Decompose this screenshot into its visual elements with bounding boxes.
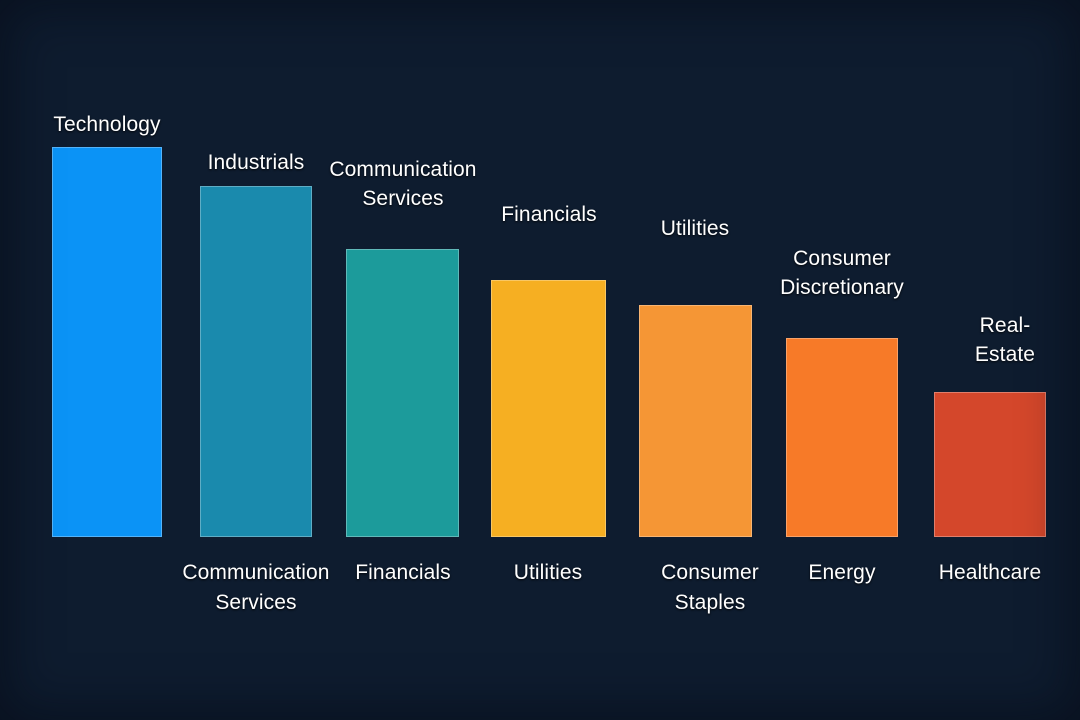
bar-utilities[interactable] [639, 305, 752, 537]
bar-industrials[interactable] [200, 186, 312, 537]
bar-real-estate[interactable] [934, 392, 1046, 537]
bar-top-label-financials: Financials [468, 200, 630, 229]
bar-financials[interactable] [491, 280, 606, 537]
bar-top-label-utilities: Utilities [620, 214, 770, 243]
bar-top-label-technology: Technology [22, 110, 192, 139]
plot-area: TechnologyIndustrialsCommunication Servi… [0, 0, 1080, 720]
bar-chart: TechnologyIndustrialsCommunication Servi… [0, 0, 1080, 720]
bar-bottom-label-real-estate: Healthcare [900, 558, 1080, 588]
bar-consumer-discretionary[interactable] [786, 338, 898, 537]
bar-top-label-industrials: Industrials [171, 148, 341, 177]
bar-top-label-communication-services: Communication Services [329, 155, 477, 213]
bar-communication-services[interactable] [346, 249, 459, 537]
bar-technology[interactable] [52, 147, 162, 537]
bar-top-label-real-estate: Real- Estate [930, 311, 1080, 369]
bar-top-label-consumer-discretionary: Consumer Discretionary [772, 244, 912, 302]
